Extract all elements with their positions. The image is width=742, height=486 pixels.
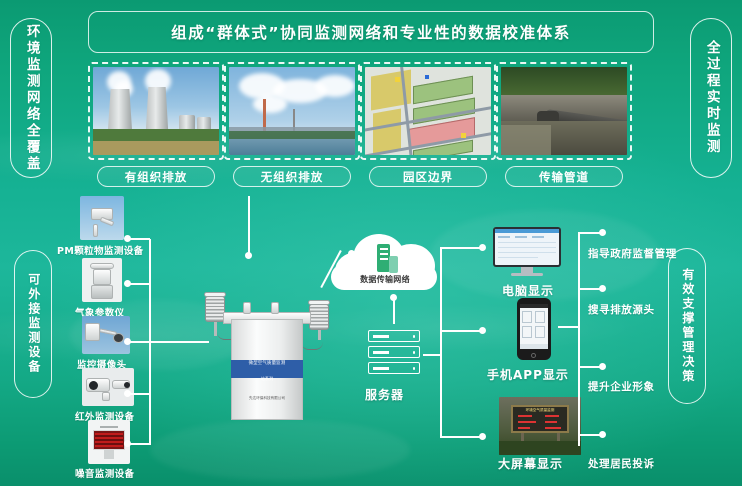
benefit-node-0 xyxy=(599,229,606,236)
right-branch-monitor xyxy=(440,247,482,249)
right-node-billboard xyxy=(479,433,486,440)
scene-card-0 xyxy=(88,62,224,160)
left-node-3 xyxy=(124,390,131,397)
left-branch-2 xyxy=(128,341,150,343)
server-icon xyxy=(365,330,423,382)
server-to-right-line xyxy=(423,354,441,356)
poster-canvas: 环境监测网络全覆盖 全过程实时监测 组成“群体式”协同监测网络和专业性的数据校准… xyxy=(0,0,742,486)
scene-image-1 xyxy=(229,67,355,155)
left-branch-1 xyxy=(128,283,150,285)
page-title-text: 组成“群体式”协同监测网络和专业性的数据校准体系 xyxy=(171,21,571,43)
benefits-trunk-in xyxy=(558,326,578,328)
device-image-3 xyxy=(82,368,134,406)
device-image-1 xyxy=(82,258,122,302)
scene-card-2 xyxy=(360,62,496,160)
scene-caption-3: 传输管道 xyxy=(505,166,623,187)
scene-caption-0-label: 有组织排放 xyxy=(125,169,188,185)
scene-caption-2: 园区边界 xyxy=(369,166,487,187)
scene-image-3 xyxy=(501,67,627,155)
sidebar-pill-decision-support: 有效支撑管理决策 xyxy=(668,248,706,404)
sidebar-pill-realtime-monitoring-label: 全过程实时监测 xyxy=(703,40,719,156)
right-node-monitor xyxy=(479,244,486,251)
scene-caption-3-label: 传输管道 xyxy=(539,169,589,185)
device-label-4: 噪音监测设备 xyxy=(75,466,134,480)
desktop-monitor xyxy=(493,227,561,277)
left-branch-3 xyxy=(128,393,150,395)
right-node-phone xyxy=(479,327,486,334)
station-model-label: 站系列 xyxy=(231,376,303,382)
display-label-1: 手机APP显示 xyxy=(487,366,569,383)
background-blob-3 xyxy=(150,420,410,480)
scene-caption-1-label: 无组织排放 xyxy=(261,169,324,185)
top-drop-node xyxy=(245,252,252,259)
scene-caption-1: 无组织排放 xyxy=(233,166,351,187)
device-image-2 xyxy=(82,316,130,354)
left-branch-4 xyxy=(128,443,150,445)
cloud-label: 数据传输网络 xyxy=(329,274,441,285)
server-link-node xyxy=(390,294,397,301)
data-transmission-cloud: 数据传输网络 xyxy=(329,230,441,294)
benefit-label-1: 搜寻排放源头 xyxy=(588,302,655,317)
scene-caption-0: 有组织排放 xyxy=(97,166,215,187)
benefit-label-2: 提升企业形象 xyxy=(588,379,655,394)
scene-card-1 xyxy=(224,62,360,160)
sidebar-pill-external-devices-label: 可外接监测设备 xyxy=(26,273,40,375)
left-node-2 xyxy=(124,338,131,345)
top-drop-line xyxy=(248,196,250,256)
sidebar-pill-network-coverage-label: 环境监测网络全覆盖 xyxy=(23,24,39,173)
scene-caption-2-label: 园区边界 xyxy=(403,169,453,185)
benefit-label-0: 指导政府监督管理 xyxy=(588,246,677,261)
left-node-0 xyxy=(124,235,131,242)
smartphone xyxy=(517,298,551,360)
left-trunk-to-station xyxy=(149,341,209,343)
sidebar-pill-realtime-monitoring: 全过程实时监测 xyxy=(690,18,732,178)
right-branch-billboard xyxy=(440,436,482,438)
left-branch-0 xyxy=(128,238,150,240)
benefit-node-1 xyxy=(599,285,606,292)
scene-card-3 xyxy=(496,62,632,160)
server-label: 服务器 xyxy=(365,386,404,403)
sidebar-pill-decision-support-label: 有效支撑管理决策 xyxy=(680,268,694,384)
sidebar-pill-external-devices: 可外接监测设备 xyxy=(14,250,52,398)
device-label-0: PM颗粒物监测设备 xyxy=(57,243,144,257)
display-label-2: 大屏幕显示 xyxy=(498,455,563,472)
right-branch-phone xyxy=(440,330,482,332)
page-title: 组成“群体式”协同监测网络和专业性的数据校准体系 xyxy=(88,11,654,53)
benefits-bus-line xyxy=(578,233,580,446)
left-node-4 xyxy=(124,440,131,447)
display-label-0: 电脑显示 xyxy=(502,282,554,299)
station-footer-label: 先达环保科技有限公司 xyxy=(235,396,299,401)
led-billboard: 环境空气质量监测 xyxy=(499,397,581,455)
scene-image-2 xyxy=(365,67,491,155)
benefit-node-2 xyxy=(599,363,606,370)
benefit-node-3 xyxy=(599,431,606,438)
device-image-0 xyxy=(80,196,124,240)
scene-image-0 xyxy=(93,67,219,155)
sidebar-pill-network-coverage: 环境监测网络全覆盖 xyxy=(10,18,52,178)
left-node-1 xyxy=(124,280,131,287)
benefit-label-3: 处理居民投诉 xyxy=(588,456,655,471)
air-quality-station: 微型空气质量监测 站系列 先达环保科技有限公司 xyxy=(205,292,335,420)
